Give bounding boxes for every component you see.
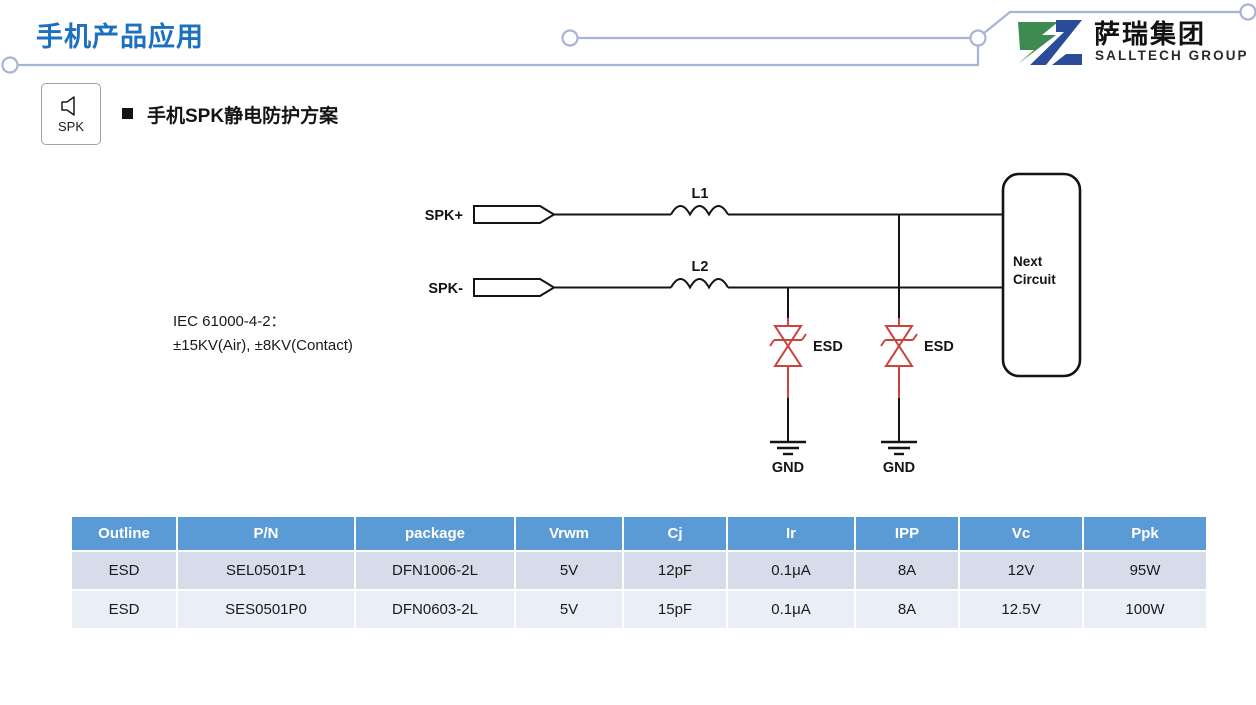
cell-cj: 12pF (624, 552, 726, 589)
cell-cj: 15pF (624, 591, 726, 628)
spk-chip-card: SPK (41, 83, 101, 145)
gnd-label-1: GND (772, 460, 804, 476)
cell-package: DFN0603-2L (356, 591, 514, 628)
inductor-label-l2: L2 (692, 259, 709, 275)
slide-page: 手机产品应用 萨瑞集团 SALLTECH GROUP SPK 手机SPK静电防护… (0, 0, 1256, 705)
column-header-package[interactable]: package (356, 517, 514, 550)
spec-table: Outline P/N package Vrwm Cj Ir IPP Vc Pp… (70, 515, 1208, 630)
cell-ppk: 95W (1084, 552, 1206, 589)
next-circuit-line2: Circuit (1013, 272, 1056, 287)
cell-vc: 12.5V (960, 591, 1082, 628)
deco-node-left (3, 58, 18, 73)
cell-vrwm: 5V (516, 552, 622, 589)
cell-vc: 12V (960, 552, 1082, 589)
cell-ir: 0.1μA (728, 552, 854, 589)
column-header-ipp[interactable]: IPP (856, 517, 958, 550)
column-header-vrwm[interactable]: Vrwm (516, 517, 622, 550)
next-circuit-line1: Next (1013, 254, 1043, 269)
section-title: 手机SPK静电防护方案 (147, 101, 338, 128)
iec-note-line1: IEC 61000-4-2： (173, 310, 353, 334)
ground-symbol-1 (770, 398, 806, 454)
logo-chinese-name: 萨瑞集团 (1094, 14, 1206, 51)
inductor-l2-icon (671, 279, 728, 288)
esd-diode-2 (881, 318, 917, 398)
column-header-outline[interactable]: Outline (72, 517, 176, 550)
inductor-l1-icon (671, 206, 728, 215)
ground-symbol-2 (881, 398, 917, 454)
port-label-spk-minus: SPK- (428, 281, 463, 297)
cell-outline: ESD (72, 552, 176, 589)
esd-label-1: ESD (813, 339, 843, 355)
spk-chip-label: SPK (42, 119, 100, 134)
iec-standard-note: IEC 61000-4-2： ±15KV(Air), ±8KV(Contact) (173, 310, 353, 358)
cell-pn: SES0501P0 (178, 591, 354, 628)
logo-mark-icon (1012, 18, 1084, 68)
cell-ppk: 100W (1084, 591, 1206, 628)
deco-node-right (971, 31, 986, 46)
iec-note-line2: ±15KV(Air), ±8KV(Contact) (173, 334, 353, 358)
port-label-spk-plus: SPK+ (425, 208, 463, 224)
column-header-ir[interactable]: Ir (728, 517, 854, 550)
company-logo: 萨瑞集团 SALLTECH GROUP (1012, 14, 1242, 76)
cell-pn: SEL0501P1 (178, 552, 354, 589)
table-row[interactable]: ESD SES0501P0 DFN0603-2L 5V 15pF 0.1μA 8… (72, 591, 1206, 628)
logo-english-name: SALLTECH GROUP (1095, 48, 1249, 63)
connector-pin-top (474, 206, 554, 223)
esd-label-2: ESD (924, 339, 954, 355)
column-header-ppk[interactable]: Ppk (1084, 517, 1206, 550)
cell-package: DFN1006-2L (356, 552, 514, 589)
cell-ir: 0.1μA (728, 591, 854, 628)
cell-ipp: 8A (856, 552, 958, 589)
page-title: 手机产品应用 (36, 15, 204, 54)
cell-ipp: 8A (856, 591, 958, 628)
table-header-row: Outline P/N package Vrwm Cj Ir IPP Vc Pp… (72, 517, 1206, 550)
inductor-label-l1: L1 (692, 186, 709, 202)
section-bullet-icon (122, 108, 133, 119)
connector-pin-bottom (474, 279, 554, 296)
column-header-cj[interactable]: Cj (624, 517, 726, 550)
deco-node-mid (563, 31, 578, 46)
cell-outline: ESD (72, 591, 176, 628)
deco-node-corner (1241, 5, 1256, 20)
esd-diode-1 (770, 318, 806, 398)
column-header-vc[interactable]: Vc (960, 517, 1082, 550)
gnd-label-2: GND (883, 460, 915, 476)
cell-vrwm: 5V (516, 591, 622, 628)
column-header-pn[interactable]: P/N (178, 517, 354, 550)
speaker-icon (59, 95, 85, 117)
table-row[interactable]: ESD SEL0501P1 DFN1006-2L 5V 12pF 0.1μA 8… (72, 552, 1206, 589)
